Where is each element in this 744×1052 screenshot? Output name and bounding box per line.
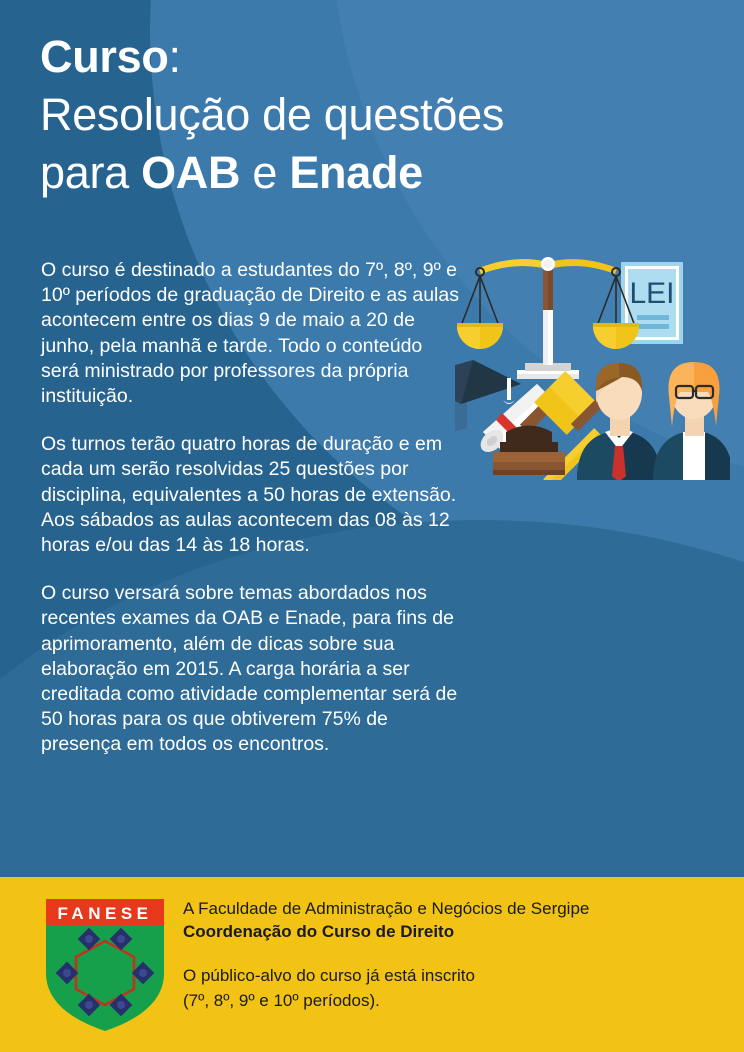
fanese-logo: FANESE [40, 895, 170, 1033]
male-professional-figure [577, 363, 661, 480]
title-keyword-oab: OAB [141, 147, 240, 198]
footer-institution-name: A Faculdade de Administração e Negócios … [183, 898, 713, 920]
female-professional-figure [653, 362, 730, 480]
body-paragraph-3: O curso versará sobre temas abordados no… [41, 581, 461, 757]
fanese-wordmark: FANESE [57, 904, 152, 923]
law-illustration: LEI [455, 250, 730, 480]
title-conjunction: e [240, 147, 289, 198]
title-keyword-enade: Enade [289, 147, 423, 198]
footer-note-block: O público-alvo do curso já está inscrito… [183, 963, 713, 1013]
title-prefix-para: para [40, 147, 141, 198]
footer-note-line-1: O público-alvo do curso já está inscrito [183, 963, 713, 988]
body-paragraph-2: Os turnos terão quatro horas de duração … [41, 432, 461, 558]
poster-title: Curso: Resolução de questões para OAB e … [40, 28, 680, 202]
title-line-1: Curso: [40, 28, 680, 86]
poster-footer: FANESE [0, 877, 744, 1052]
title-line-3: para OAB e Enade [40, 144, 680, 202]
footer-department-name: Coordenação do Curso de Direito [183, 920, 713, 943]
title-colon: : [169, 31, 181, 82]
poster-root: Curso: Resolução de questões para OAB e … [0, 0, 744, 1052]
scales-of-justice-icon [457, 257, 639, 379]
title-line-2: Resolução de questões [40, 86, 680, 144]
footer-institution-block: A Faculdade de Administração e Negócios … [183, 898, 713, 943]
title-keyword-curso: Curso [40, 31, 169, 82]
law-document-label: LEI [629, 277, 674, 310]
poster-body-copy: O curso é destinado a estudantes do 7º, … [41, 258, 461, 758]
body-paragraph-1: O curso é destinado a estudantes do 7º, … [41, 258, 461, 409]
footer-note-line-2: (7º, 8º, 9º e 10º períodos). [183, 988, 713, 1013]
